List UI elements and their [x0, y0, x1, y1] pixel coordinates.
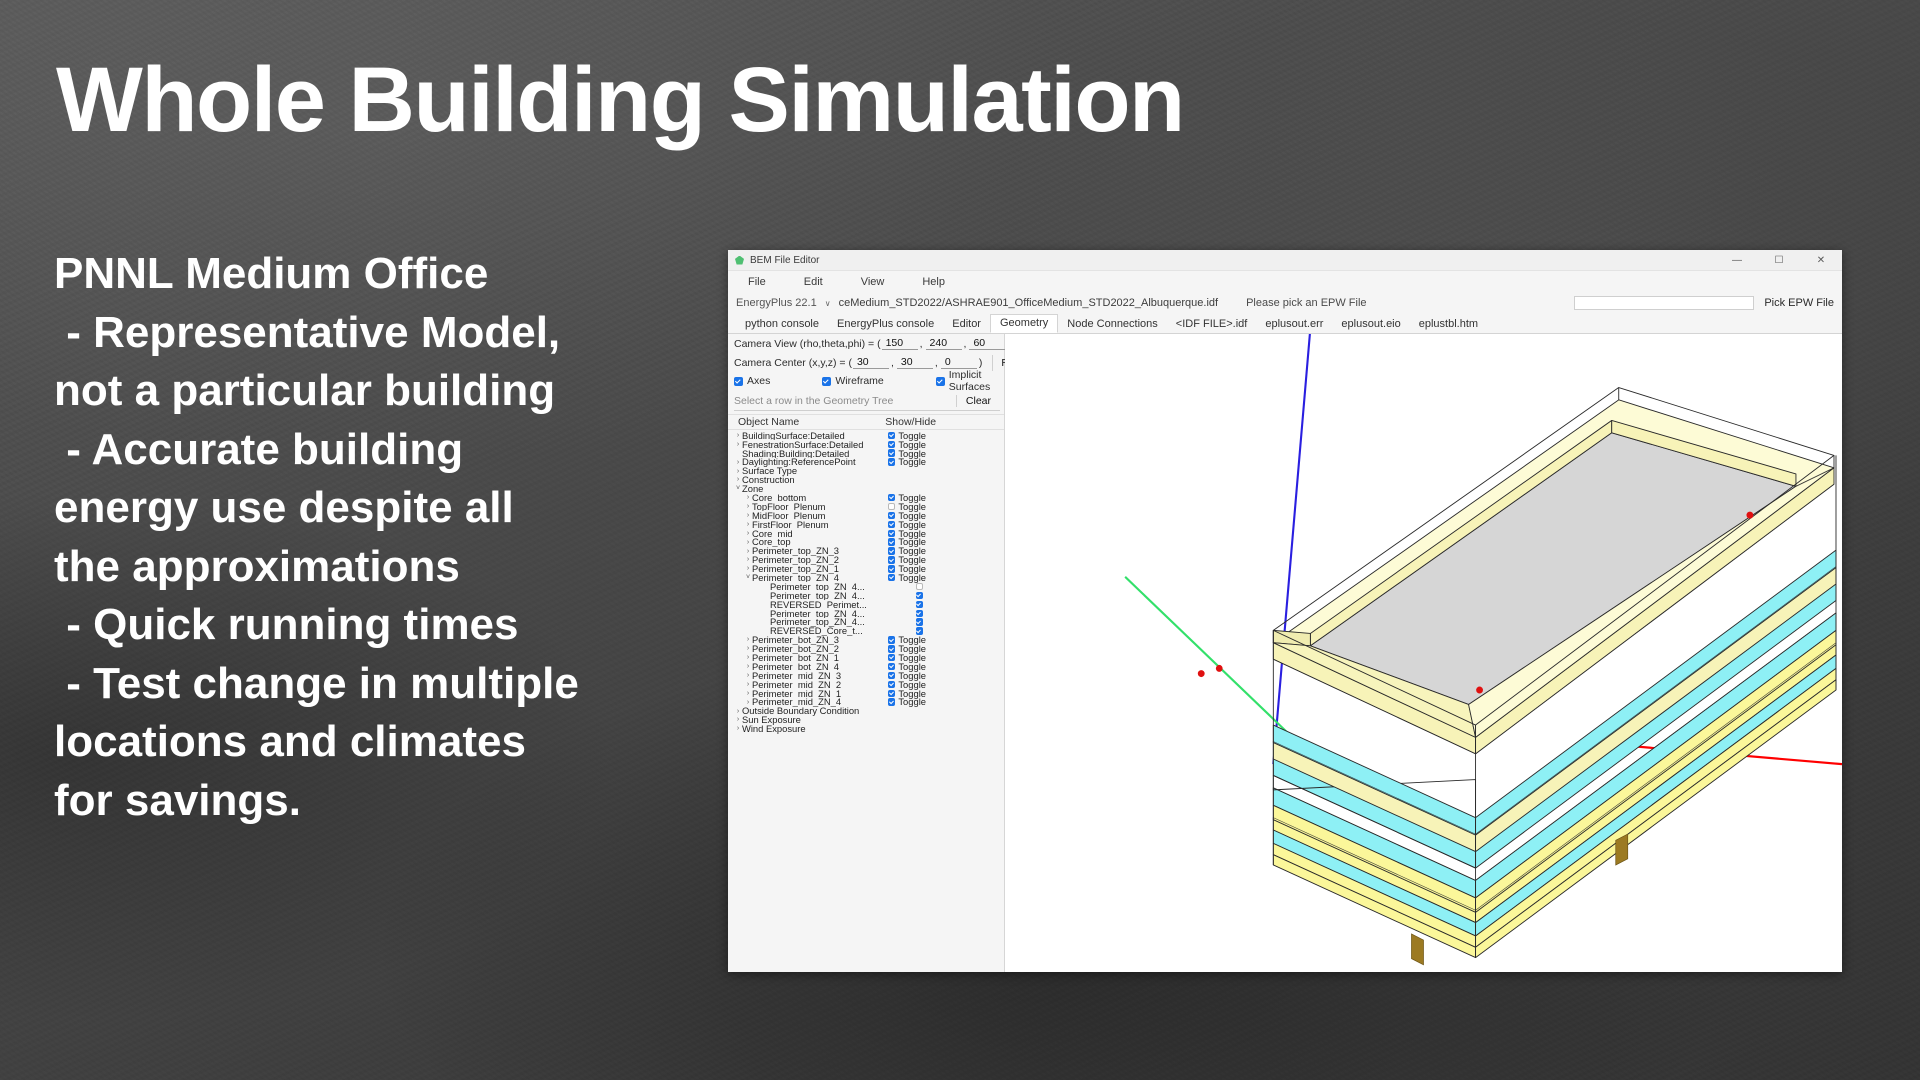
tree-header-show-hide: Show/Hide [885, 416, 936, 428]
tree-row[interactable]: REVERSED_Core_t... [728, 627, 1004, 636]
menu-item-view[interactable]: View [857, 275, 889, 289]
building-massing [1273, 388, 1836, 958]
tree-row-toggle[interactable]: Toggle [888, 697, 926, 706]
tree-expand-icon[interactable]: › [744, 699, 752, 706]
tree-row-toggle[interactable] [916, 618, 927, 626]
tab-bar: python consoleEnergyPlus consoleEditorGe… [728, 314, 1842, 334]
tree-row[interactable]: ›Perimeter_bot_ZN_2Toggle [728, 644, 1004, 653]
tree-expand-icon[interactable]: › [734, 459, 742, 466]
tree-row-toggle[interactable] [916, 583, 927, 591]
tree-row[interactable]: ›Perimeter_top_ZN_3Toggle [728, 547, 1004, 556]
tree-row[interactable]: ›Sun Exposure [728, 716, 1004, 725]
tree-expand-icon[interactable]: › [734, 432, 742, 439]
epw-picker-group: Pick EPW File [1574, 296, 1834, 310]
clear-button[interactable]: Clear [956, 395, 1000, 407]
app-logo-icon [734, 255, 745, 266]
tab-node-connections[interactable]: Node Connections [1058, 316, 1167, 333]
toggle-label: Toggle [898, 457, 926, 466]
tree-row[interactable]: ›Core_bottomToggle [728, 493, 1004, 502]
slide-body-line: locations and climates [54, 713, 714, 772]
camera-center-label: Camera Center (x,y,z) = ( [734, 357, 852, 369]
toggle-checkbox[interactable] [916, 583, 924, 591]
tab-geometry[interactable]: Geometry [990, 314, 1058, 333]
tree-row[interactable]: ›Perimeter_mid_ZN_1Toggle [728, 689, 1004, 698]
slide-body-line: energy use despite all [54, 479, 714, 538]
tree-expand-icon[interactable]: › [744, 503, 752, 510]
toggle-label: Toggle [898, 697, 926, 706]
tab-idf-file-idf[interactable]: <IDF FILE>.idf [1167, 316, 1257, 333]
tree-row[interactable]: ›Perimeter_mid_ZN_4Toggle [728, 698, 1004, 707]
toggle-checkbox[interactable] [888, 681, 896, 689]
tree-row[interactable]: Perimeter_top_ZN_4... [728, 609, 1004, 618]
tree-header-object-name: Object Name [738, 416, 799, 428]
tree-row[interactable]: ›Construction [728, 475, 1004, 484]
page-title: Whole Building Simulation [56, 52, 1184, 149]
tree-row[interactable]: ›Surface Type [728, 467, 1004, 476]
tree-expand-icon[interactable]: › [734, 725, 742, 732]
toggle-checkbox[interactable] [888, 432, 896, 440]
tree-row[interactable]: ›Core_midToggle [728, 529, 1004, 538]
toggle-checkbox[interactable] [916, 610, 924, 618]
camera-center-paren: ) [978, 357, 985, 369]
toggle-checkbox[interactable] [888, 547, 896, 555]
toggle-checkbox[interactable] [916, 601, 924, 609]
tab-editor[interactable]: Editor [943, 316, 990, 333]
tab-energyplus-console[interactable]: EnergyPlus console [828, 316, 943, 333]
tree-expand-icon[interactable]: › [744, 494, 752, 501]
window-controls: — ☐ ✕ [1716, 250, 1842, 271]
tree-row[interactable]: ›MidFloor_PlenumToggle [728, 511, 1004, 520]
epw-path-field[interactable] [1574, 296, 1754, 310]
tree-expand-icon[interactable]: › [744, 539, 752, 546]
geometry-viewport-3d[interactable] [1005, 334, 1842, 972]
toggle-checkbox[interactable] [888, 565, 896, 573]
minimize-button[interactable]: — [1716, 250, 1758, 271]
geometry-tree-search-row: Clear [734, 392, 1000, 411]
tree-row[interactable]: ›Daylighting:ReferencePointToggle [728, 458, 1004, 467]
tree-expand-icon[interactable]: › [744, 521, 752, 528]
menu-item-help[interactable]: Help [918, 275, 949, 289]
door-front-left [1411, 934, 1423, 965]
tree-expand-icon[interactable]: › [744, 663, 752, 670]
toggle-checkbox[interactable] [888, 690, 896, 698]
toggle-checkbox[interactable] [888, 449, 896, 457]
tree-row[interactable]: ›FirstFloor_PlenumToggle [728, 520, 1004, 529]
geometry-tree[interactable]: ›BuildingSurface:DetailedToggle›Fenestra… [728, 430, 1004, 972]
tree-row[interactable]: ›Core_topToggle [728, 538, 1004, 547]
energyplus-version-label: EnergyPlus 22.1 [736, 297, 817, 309]
tree-row[interactable]: ›Perimeter_bot_ZN_1Toggle [728, 653, 1004, 662]
toggle-checkbox[interactable] [888, 494, 896, 502]
chevron-down-icon[interactable]: ∨ [825, 299, 831, 308]
tab-eplustbl-htm[interactable]: eplustbl.htm [1410, 316, 1487, 333]
slide-body-text: PNNL Medium Office - Representative Mode… [54, 245, 714, 830]
slide-body-line: for savings. [54, 772, 714, 831]
wireframe-label: Wireframe [835, 375, 883, 387]
tree-row[interactable]: Perimeter_top_ZN_4... [728, 618, 1004, 627]
tree-row-toggle[interactable] [916, 601, 927, 609]
close-button[interactable]: ✕ [1800, 250, 1842, 271]
slide-body-line: not a particular building [54, 362, 714, 421]
tree-expand-icon[interactable]: › [744, 530, 752, 537]
tree-row-toggle[interactable]: Toggle [888, 457, 926, 466]
tab-eplusout-eio[interactable]: eplusout.eio [1332, 316, 1409, 333]
tree-row-toggle[interactable] [916, 592, 927, 600]
camera-center-comma-1: , [890, 357, 896, 369]
tree-expand-icon[interactable]: › [744, 512, 752, 519]
geometry-svg [1005, 334, 1842, 972]
tree-row-toggle[interactable]: Toggle [888, 573, 926, 582]
toggle-checkbox[interactable] [888, 441, 896, 449]
tree-row-toggle[interactable] [916, 610, 927, 618]
toggle-checkbox[interactable] [888, 538, 896, 546]
tree-expand-icon[interactable]: › [744, 690, 752, 697]
menu-bar: FileEditViewHelp [728, 271, 1842, 292]
tree-row[interactable]: ›Perimeter_top_ZN_2Toggle [728, 555, 1004, 564]
tree-expand-icon[interactable]: › [744, 681, 752, 688]
window-titlebar: BEM File Editor — ☐ ✕ [728, 250, 1842, 271]
tree-row[interactable]: ›Perimeter_bot_ZN_4Toggle [728, 662, 1004, 671]
tree-row[interactable]: Perimeter_top_ZN_4... [728, 582, 1004, 591]
implicit-surfaces-label: Implicit Surfaces [949, 369, 1004, 393]
tree-header: Object Name Show/Hide [728, 414, 1004, 430]
axis-y-line [1125, 577, 1305, 750]
tree-row[interactable]: ›Perimeter_top_ZN_1Toggle [728, 564, 1004, 573]
slide-body-line: PNNL Medium Office [54, 245, 714, 304]
tree-expand-icon[interactable]: › [744, 565, 752, 572]
tree-expand-icon[interactable]: › [734, 468, 742, 475]
camera-view-comma-2: , [963, 338, 969, 350]
tree-row[interactable]: Shading:Building:DetailedToggle [728, 449, 1004, 458]
tree-row[interactable]: ›Perimeter_bot_ZN_3Toggle [728, 635, 1004, 644]
tree-row[interactable]: ˅Zone [728, 484, 1004, 493]
toggle-checkbox[interactable] [888, 698, 896, 706]
geometry-control-panel: Camera View (rho,theta,phi) = ( 150 , 24… [728, 334, 1005, 972]
tree-row[interactable]: ˅Perimeter_top_ZN_4Toggle [728, 573, 1004, 582]
tree-expand-icon[interactable]: › [744, 654, 752, 661]
toggle-checkbox[interactable] [916, 592, 924, 600]
toggle-checkbox[interactable] [888, 654, 896, 662]
camera-center-z-input[interactable]: 0 [941, 356, 977, 369]
menu-item-file[interactable]: File [744, 275, 770, 289]
tree-expand-icon[interactable]: › [744, 548, 752, 555]
camera-rho-input[interactable]: 150 [882, 337, 918, 350]
slide-body-line: - Test change in multiple [54, 655, 714, 714]
tree-row[interactable]: Perimeter_top_ZN_4... [728, 591, 1004, 600]
toggle-checkbox[interactable] [916, 618, 924, 626]
axes-label: Axes [747, 375, 770, 387]
daylight-reference-point [1476, 687, 1483, 694]
axis-z-line [1273, 334, 1313, 764]
toggle-checkbox[interactable] [888, 663, 896, 671]
tree-expand-icon[interactable]: › [734, 716, 742, 723]
tree-expand-icon[interactable]: › [734, 708, 742, 715]
tree-row[interactable]: ›FenestrationSurface:DetailedToggle [728, 440, 1004, 449]
slide-body-line: - Representative Model, [54, 304, 714, 363]
toggle-checkbox[interactable] [888, 530, 896, 538]
wireframe-checkbox[interactable] [822, 377, 831, 386]
camera-center-y-input[interactable]: 30 [897, 356, 933, 369]
slide-body-line: - Quick running times [54, 596, 714, 655]
axes-checkbox[interactable] [734, 377, 743, 386]
camera-view-comma-1: , [919, 338, 925, 350]
tree-row[interactable]: ›Perimeter_mid_ZN_2Toggle [728, 680, 1004, 689]
display-options-row: Axes Wireframe Implicit Surfaces [728, 372, 1004, 390]
camera-theta-input[interactable]: 240 [926, 337, 962, 350]
tree-expand-icon[interactable]: ˅ [744, 574, 752, 581]
tree-expand-icon[interactable]: ˅ [734, 485, 742, 492]
toggle-checkbox[interactable] [888, 672, 896, 680]
slide-body-line: the approximations [54, 538, 714, 597]
daylight-reference-point [1216, 665, 1223, 672]
camera-phi-input[interactable]: 60 [969, 337, 1005, 350]
window-title: BEM File Editor [750, 255, 819, 266]
pick-epw-file-button[interactable]: Pick EPW File [1764, 297, 1834, 309]
camera-view-label: Camera View (rho,theta,phi) = ( [734, 338, 881, 350]
menu-item-edit[interactable]: Edit [800, 275, 827, 289]
daylight-reference-point [1198, 670, 1205, 677]
bem-file-editor-window: BEM File Editor — ☐ ✕ FileEditViewHelp E… [728, 250, 1842, 972]
tab-python-console[interactable]: python console [736, 316, 828, 333]
camera-center-comma-2: , [934, 357, 940, 369]
tab-eplusout-err[interactable]: eplusout.err [1256, 316, 1332, 333]
toggle-checkbox[interactable] [888, 503, 896, 511]
toggle-checkbox[interactable] [888, 645, 896, 653]
toggle-checkbox[interactable] [888, 574, 896, 582]
camera-center-x-input[interactable]: 30 [853, 356, 889, 369]
geometry-tree-search-input[interactable] [734, 395, 956, 407]
daylight-reference-point [1746, 512, 1753, 519]
tree-row[interactable]: ›Outside Boundary Condition [728, 707, 1004, 716]
tree-row[interactable]: ›Wind Exposure [728, 724, 1004, 733]
tree-expand-icon[interactable]: › [744, 672, 752, 679]
tree-row[interactable]: ›BuildingSurface:DetailedToggle [728, 431, 1004, 440]
tree-row-label: Wind Exposure [742, 724, 806, 733]
idf-path-label[interactable]: ceMedium_STD2022/ASHRAE901_OfficeMedium_… [839, 297, 1219, 309]
tree-expand-icon[interactable]: › [744, 636, 752, 643]
tree-expand-icon[interactable]: › [744, 556, 752, 563]
tree-row[interactable]: REVERSED_Perimet... [728, 600, 1004, 609]
maximize-button[interactable]: ☐ [1758, 250, 1800, 271]
tree-row[interactable]: ›TopFloor_PlenumToggle [728, 502, 1004, 511]
toggle-checkbox[interactable] [888, 556, 896, 564]
toggle-checkbox[interactable] [888, 512, 896, 520]
tree-row[interactable]: ›Perimeter_mid_ZN_3Toggle [728, 671, 1004, 680]
file-selection-row: EnergyPlus 22.1 ∨ ceMedium_STD2022/ASHRA… [728, 292, 1842, 314]
implicit-surfaces-checkbox[interactable] [936, 377, 945, 386]
slide-body-line: - Accurate building [54, 421, 714, 480]
toggle-checkbox[interactable] [888, 521, 896, 529]
epw-hint-label: Please pick an EPW File [1246, 297, 1366, 309]
tree-expand-icon[interactable]: › [734, 476, 742, 483]
toggle-checkbox[interactable] [888, 636, 896, 644]
toggle-checkbox[interactable] [888, 458, 896, 466]
camera-view-row: Camera View (rho,theta,phi) = ( 150 , 24… [728, 334, 1004, 353]
tree-expand-icon[interactable]: › [744, 645, 752, 652]
toggle-label: Toggle [898, 573, 926, 582]
tree-expand-icon[interactable]: › [734, 441, 742, 448]
window-body: Camera View (rho,theta,phi) = ( 150 , 24… [728, 334, 1842, 972]
